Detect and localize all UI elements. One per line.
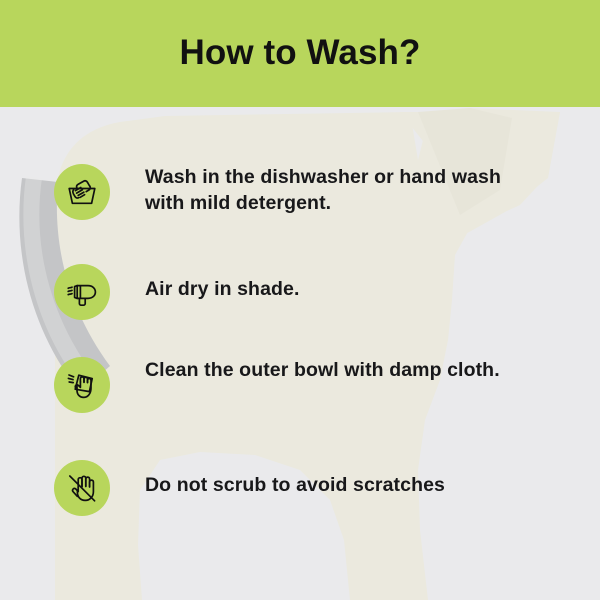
- header-banner: How to Wash?: [0, 0, 600, 107]
- hand-wash-basin-icon: [54, 164, 110, 220]
- instruction-text: Air dry in shade.: [145, 277, 515, 303]
- instruction-list: Wash in the dishwasher or hand wash with…: [0, 107, 600, 600]
- hair-dryer-icon: [54, 264, 110, 320]
- instruction-text: Clean the outer bowl with damp cloth.: [145, 358, 515, 384]
- hand-wiping-cloth-icon: [54, 357, 110, 413]
- instruction-text: Do not scrub to avoid scratches: [145, 473, 515, 499]
- page-title: How to Wash?: [180, 35, 421, 72]
- how-to-wash-card: How to Wash? Wash in the dishwasher or h…: [0, 0, 600, 600]
- no-hand-touch-icon: [54, 460, 110, 516]
- instruction-text: Wash in the dishwasher or hand wash with…: [145, 165, 515, 217]
